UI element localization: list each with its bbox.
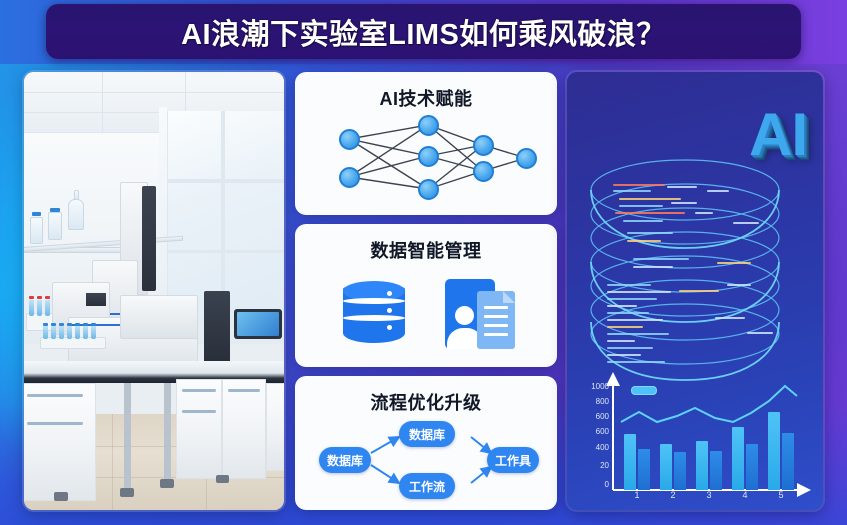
flow-node-left[interactable]: 数据库 (319, 447, 371, 473)
lab-bottle (48, 212, 62, 240)
bar-b-3 (710, 451, 722, 490)
y-tick-3: 600 (577, 427, 609, 436)
bar-a-1 (624, 434, 636, 490)
database-icon (343, 281, 405, 351)
lab-flask (68, 199, 84, 230)
page-title: AI浪潮下实验室LIMS如何乘风破浪？ (181, 11, 666, 53)
y-tick-1: 800 (577, 397, 609, 406)
card-ai-technology[interactable]: AI技术赋能 (295, 72, 557, 215)
y-tick-5: 20 (577, 461, 609, 470)
x-tick-4: 4 (732, 490, 758, 500)
lab-bottle (30, 217, 43, 244)
card-data-management[interactable]: 数据智能管理 (295, 224, 557, 367)
bar-a-2 (660, 444, 672, 490)
bar-a-4 (732, 427, 744, 490)
x-tick-5: 5 (768, 490, 794, 500)
neural-network-icon (295, 111, 557, 215)
card-ai-title: AI技术赋能 (380, 85, 473, 111)
title-banner: AI浪潮下实验室LIMS如何乘风破浪？ (46, 4, 801, 59)
bar-chart: 1000 800 600 600 400 20 0 (577, 372, 817, 504)
y-tick-4: 400 (577, 443, 609, 452)
y-tick-2: 600 (577, 412, 609, 421)
flow-node-right[interactable]: 工作具 (487, 447, 539, 473)
chart-legend-swatch (631, 386, 657, 395)
laboratory-photo (24, 72, 284, 510)
bar-b-2 (674, 452, 686, 490)
bar-b-1 (638, 449, 650, 490)
computer-monitor (234, 309, 282, 339)
x-tick-2: 2 (660, 490, 686, 500)
tube-rack (40, 337, 106, 349)
flow-diagram-icon: 数据库 数据库 工作流 工作具 (295, 415, 557, 510)
bar-a-5 (768, 412, 780, 490)
flow-node-top[interactable]: 数据库 (399, 421, 455, 447)
y-tick-6: 0 (577, 480, 609, 489)
lab-cabinet (266, 383, 284, 471)
ai-logo: AI (749, 100, 807, 169)
ai-visual-panel: AI 1000 800 600 600 400 20 0 (567, 72, 823, 510)
card-flow-title: 流程优化升级 (371, 389, 482, 415)
lab-cabinet (24, 383, 96, 501)
card-process-optimization[interactable]: 流程优化升级 数据库 数据库 工作流 工作具 (295, 376, 557, 510)
x-tick-3: 3 (696, 490, 722, 500)
y-tick-0: 1000 (577, 382, 609, 391)
flow-node-bottom[interactable]: 工作流 (399, 473, 455, 499)
bar-b-4 (746, 444, 758, 490)
bar-b-5 (782, 433, 794, 490)
user-document-icon (441, 279, 517, 353)
bar-a-3 (696, 441, 708, 490)
lab-cabinet (222, 379, 266, 480)
card-data-title: 数据智能管理 (371, 237, 482, 263)
x-tick-1: 1 (624, 490, 650, 500)
lab-cabinet (176, 379, 222, 480)
